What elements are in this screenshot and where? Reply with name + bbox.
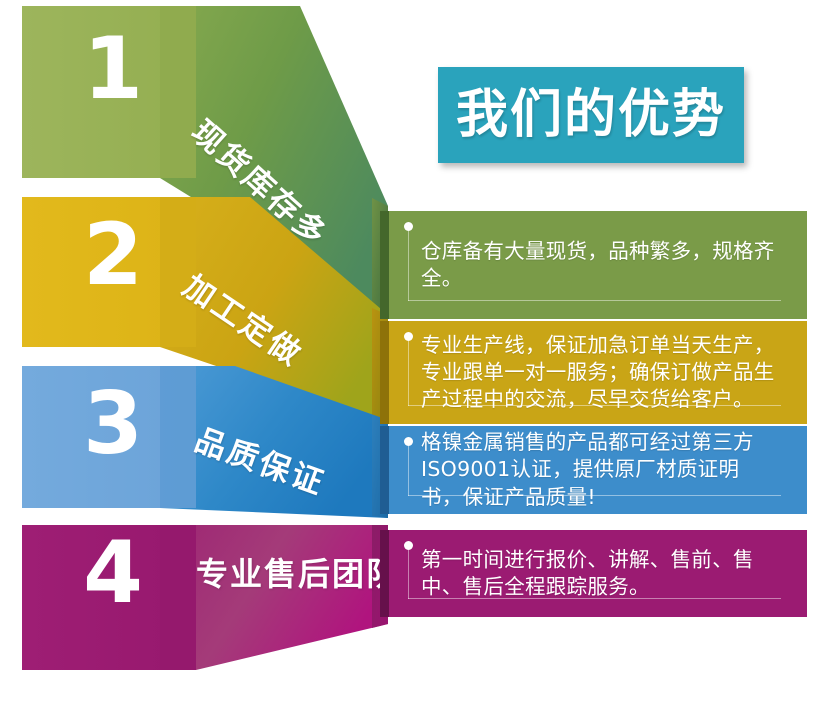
bullet-dot-icon: [404, 332, 413, 341]
panel-vertical-rule: [408, 446, 409, 496]
panel-side-face-1: [380, 211, 389, 319]
description-text-1: 仓库备有大量现货，品种繁多，规格齐全。: [421, 238, 777, 292]
panel-body-2: 专业生产线，保证加急订单当天生产，专业跟单一对一服务；确保订做产品生产过程中的交…: [389, 321, 807, 424]
description-panel-2: 专业生产线，保证加急订单当天生产，专业跟单一对一服务；确保订做产品生产过程中的交…: [380, 321, 807, 424]
infographic-canvas: 我们的优势 1 2 3 4 现货库存多 加工定做 品质保证 专业售后团队 仓库备…: [0, 0, 830, 707]
description-panel-1: 仓库备有大量现货，品种繁多，规格齐全。: [380, 211, 807, 319]
description-text-4: 第一时间进行报价、讲解、售前、售中、售后全程跟踪服务。: [421, 546, 777, 601]
bullet-dot-icon: [404, 541, 413, 550]
step-number-4: 4: [38, 530, 188, 616]
ribbon-label-4: 专业售后团队: [196, 558, 400, 590]
panel-horizontal-rule: [408, 300, 781, 301]
panel-vertical-rule: [408, 231, 409, 301]
panel-vertical-rule: [408, 550, 409, 599]
panel-body-4: 第一时间进行报价、讲解、售前、售中、售后全程跟踪服务。: [389, 530, 807, 617]
page-title: 我们的优势: [456, 89, 726, 141]
panel-side-face-3: [380, 426, 389, 514]
description-text-3: 格镍金属销售的产品都可经过第三方ISO9001认证，提供原厂材质证明书，保证产品…: [421, 429, 777, 511]
step-number-3: 3: [38, 381, 188, 467]
step-number-2: 2: [38, 212, 188, 298]
description-text-2: 专业生产线，保证加急订单当天生产，专业跟单一对一服务；确保订做产品生产过程中的交…: [421, 331, 777, 413]
panel-vertical-rule: [408, 341, 409, 406]
panel-body-3: 格镍金属销售的产品都可经过第三方ISO9001认证，提供原厂材质证明书，保证产品…: [389, 426, 807, 514]
step-number-1: 1: [38, 26, 188, 112]
panel-side-face-2: [380, 321, 389, 424]
bullet-dot-icon: [404, 222, 413, 231]
panel-side-face-4: [380, 530, 389, 617]
bullet-dot-icon: [404, 437, 413, 446]
description-panel-4: 第一时间进行报价、讲解、售前、售中、售后全程跟踪服务。: [380, 530, 807, 617]
description-panel-3: 格镍金属销售的产品都可经过第三方ISO9001认证，提供原厂材质证明书，保证产品…: [380, 426, 807, 514]
title-banner: 我们的优势: [438, 67, 744, 163]
panel-body-1: 仓库备有大量现货，品种繁多，规格齐全。: [389, 211, 807, 319]
